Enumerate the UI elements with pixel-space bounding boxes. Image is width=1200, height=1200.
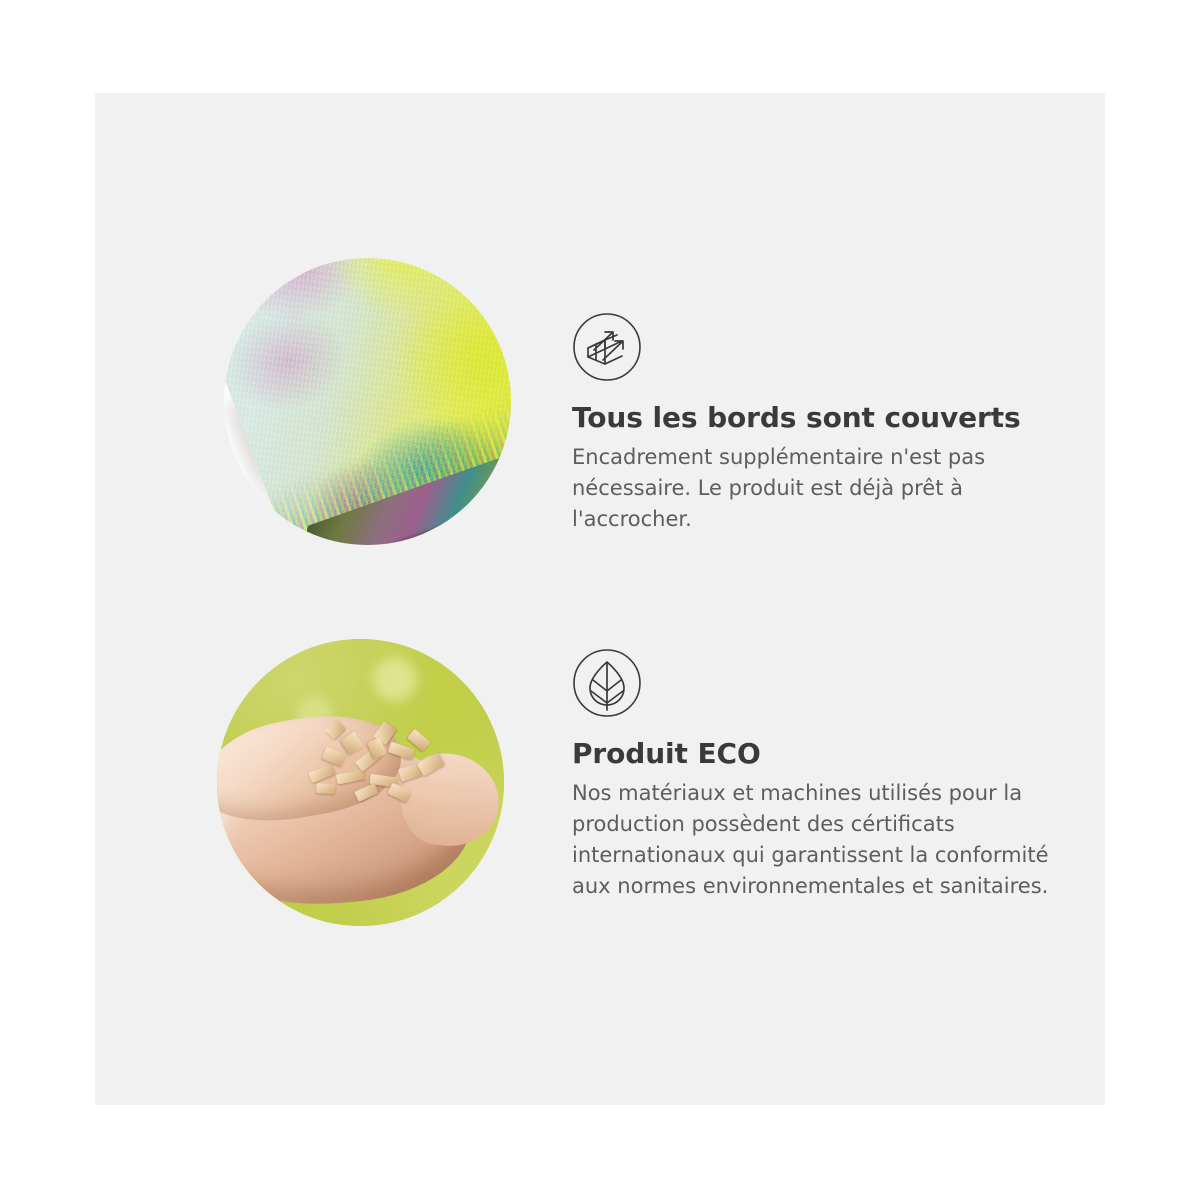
feature-block-edges: Tous les bords sont couverts Encadrement… <box>0 0 1200 1200</box>
leaf-icon <box>572 648 642 718</box>
feature-content-edges: Tous les bords sont couverts Encadrement… <box>572 312 1072 535</box>
feature-title-eco: Produit ECO <box>572 738 1084 770</box>
feature-content-eco: Produit ECO Nos matériaux et machines ut… <box>572 648 1084 902</box>
eco-hands-wood-chips-photo <box>217 639 504 926</box>
feature-title-edges: Tous les bords sont couverts <box>572 402 1072 434</box>
canvas-corner-photo <box>224 258 511 545</box>
feature-body-eco: Nos matériaux et machines utilisés pour … <box>572 778 1084 902</box>
feature-body-edges: Encadrement supplémentaire n'est pas néc… <box>572 442 1072 535</box>
infographic-stage: Tous les bords sont couverts Encadrement… <box>0 0 1200 1200</box>
wood-chips-pile <box>300 711 456 824</box>
wrapped-canvas-edges-icon <box>572 312 642 382</box>
